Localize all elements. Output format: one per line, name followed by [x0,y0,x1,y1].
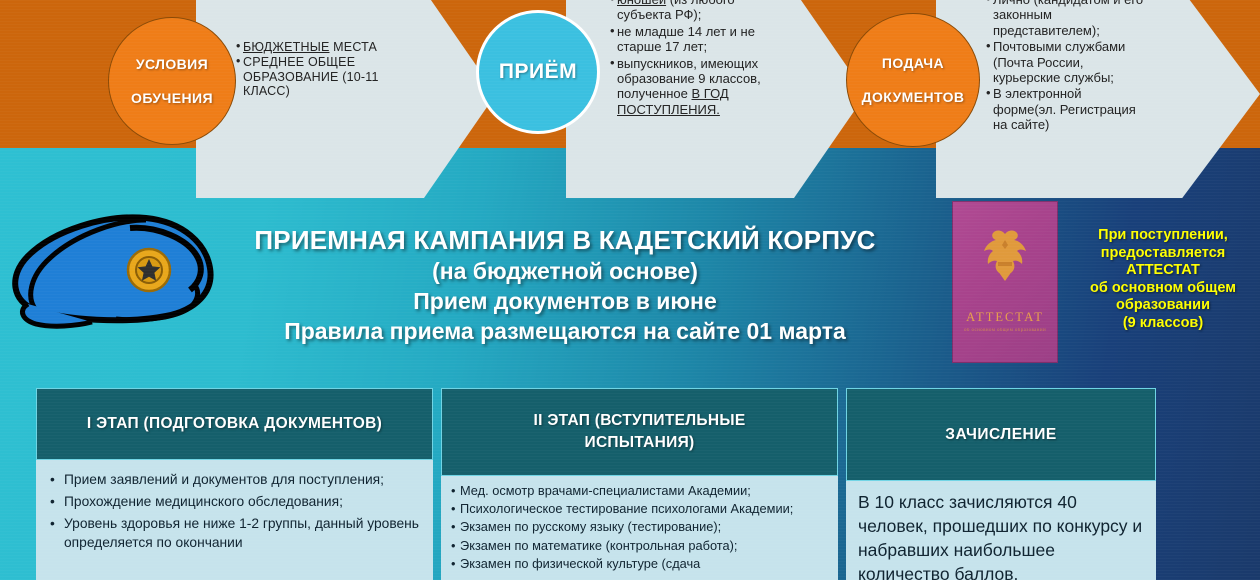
halftone-texture-overlay [0,0,1260,580]
infographic-canvas: БЮДЖЕТНЫЕ МЕСТА СРЕДНЕЕ ОБЩЕЕ ОБРАЗОВАНИ… [0,0,1260,580]
